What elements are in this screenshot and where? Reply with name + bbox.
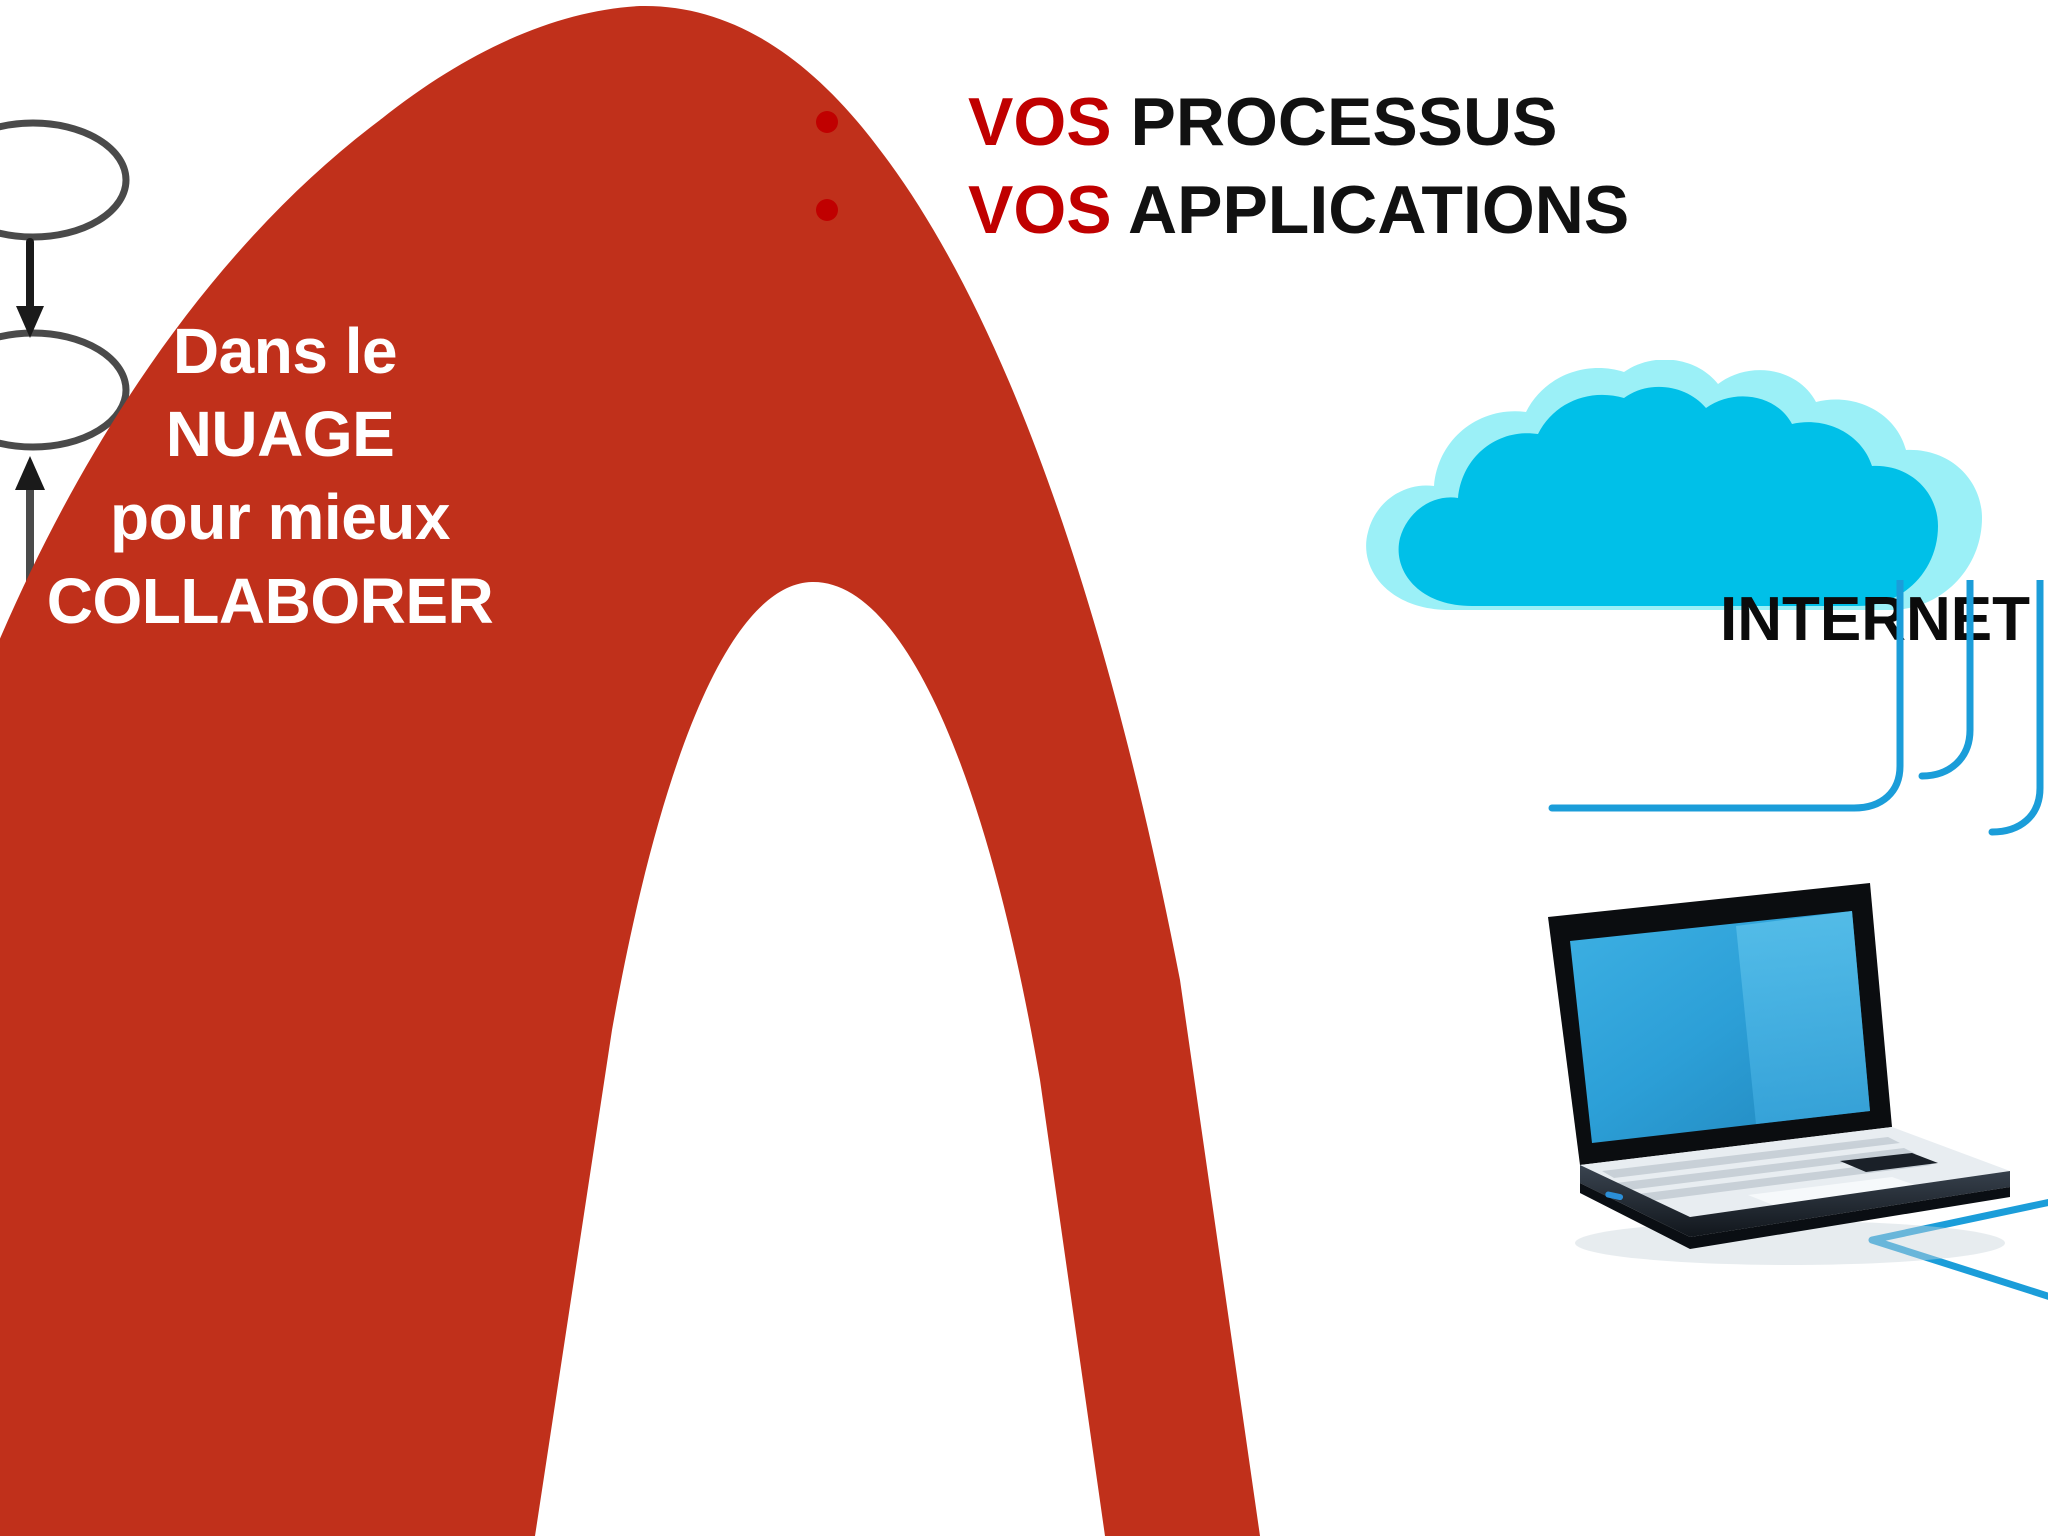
headline-line-2: NUAGE: [0, 393, 560, 476]
list-item: VOS PROCESSUS: [800, 78, 2048, 166]
bullet-dot-icon: [816, 199, 838, 221]
headline-line-1: Dans le: [0, 310, 560, 393]
cloud-label: INTERNET: [1720, 584, 2030, 655]
laptop-icon: [1540, 865, 2048, 1275]
left-headline-block: Dans le NUAGE pour mieux COLLABORER: [0, 310, 560, 643]
bullet-label: VOS APPLICATIONS: [968, 171, 1629, 249]
bullet-list: VOS PROCESSUS VOS APPLICATIONS: [800, 78, 2048, 254]
bullet-rest: PROCESSUS: [1112, 84, 1558, 160]
bullet-dot-icon: [816, 111, 838, 133]
bullet-rest: APPLICATIONS: [1112, 172, 1630, 248]
bullet-label: VOS PROCESSUS: [968, 83, 1558, 161]
bullet-emphasis: VOS: [968, 84, 1112, 160]
headline-line-4: COLLABORER: [0, 560, 560, 643]
list-item: VOS APPLICATIONS: [800, 166, 2048, 254]
bullet-emphasis: VOS: [968, 172, 1112, 248]
headline-line-3: pour mieux: [0, 476, 560, 559]
slide-canvas: Dans le NUAGE pour mieux COLLABORER VOS …: [0, 0, 2048, 1536]
